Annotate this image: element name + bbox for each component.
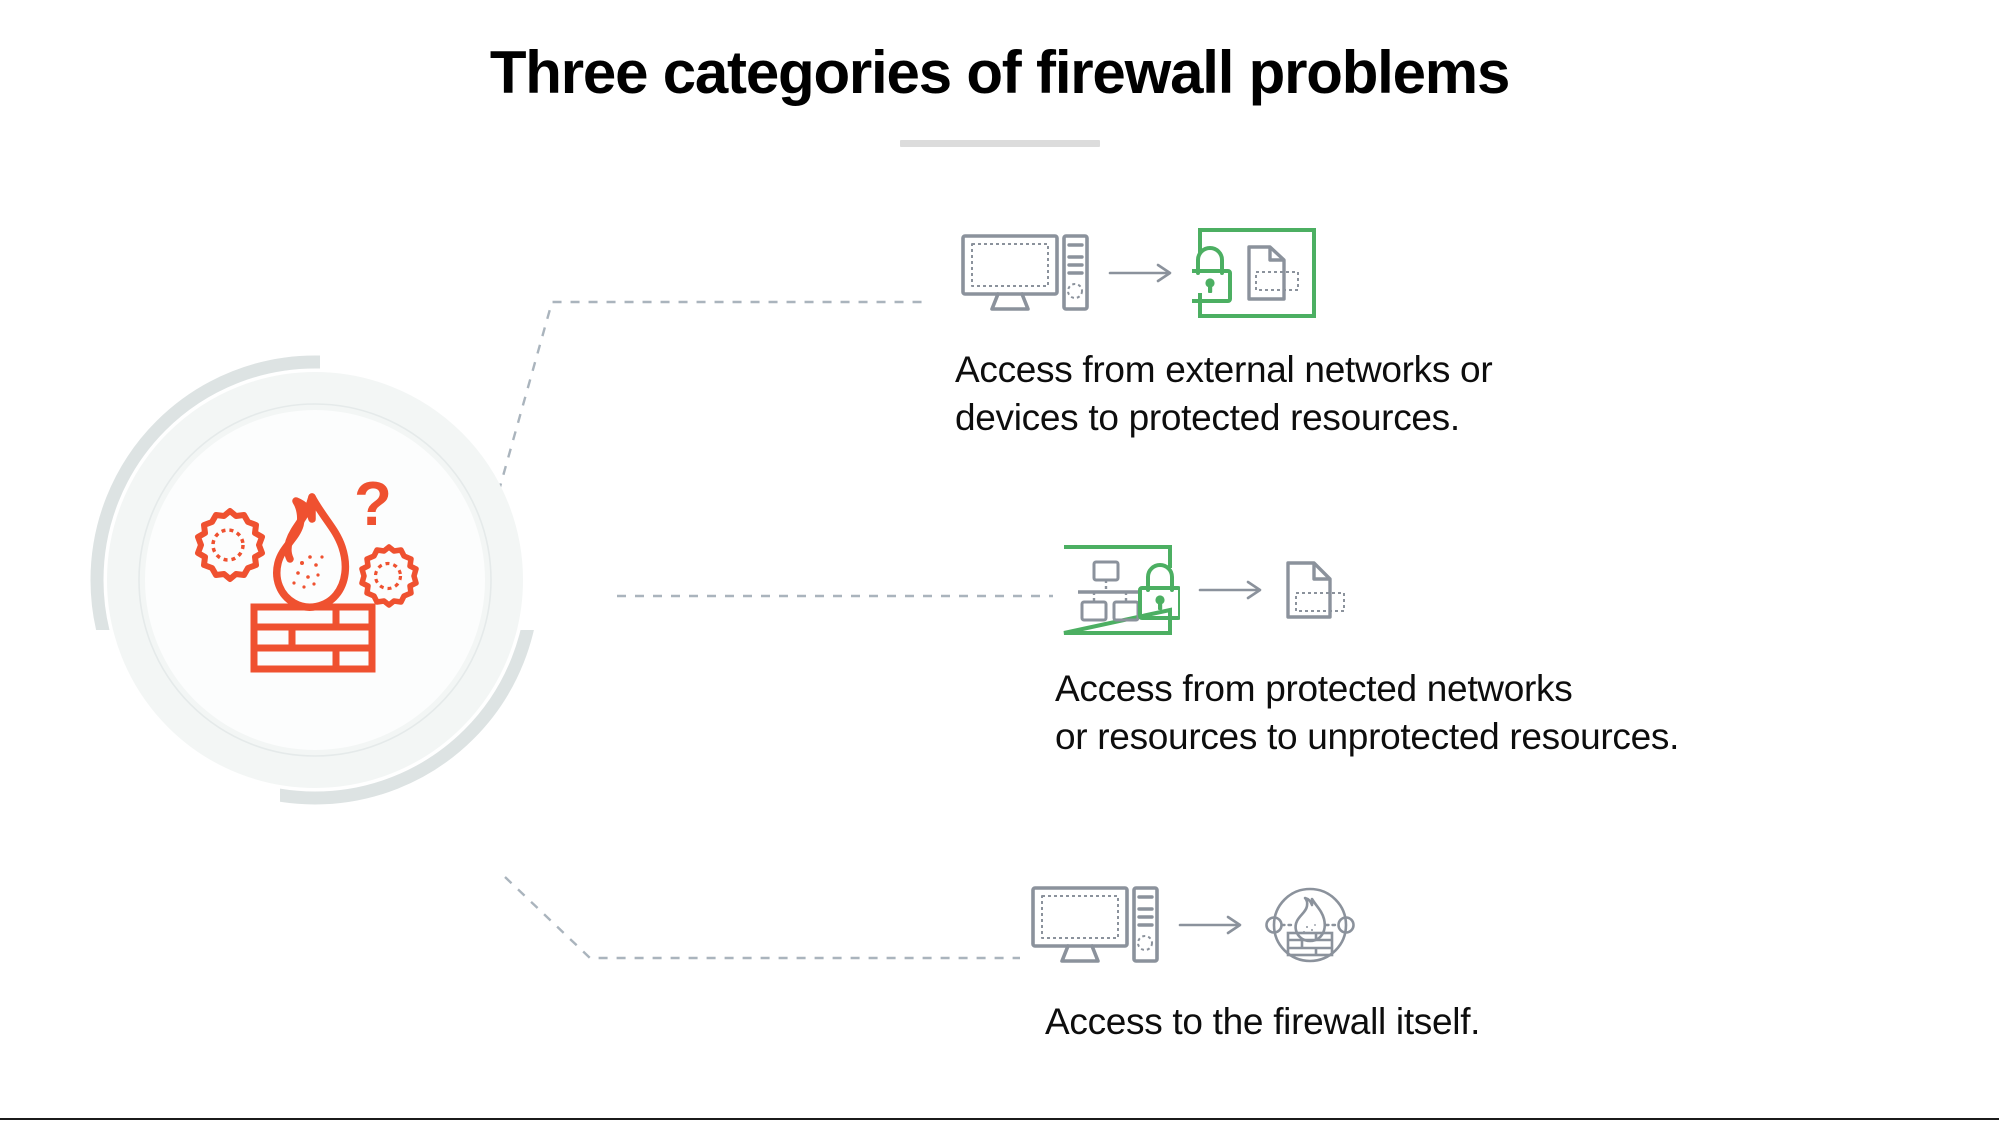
desktop-computer-icon: [1030, 883, 1160, 967]
page-title: Three categories of firewall problems: [0, 40, 1999, 106]
connector-line-bottom: [505, 877, 1020, 958]
document-icon: [1282, 557, 1348, 623]
row-3-caption: Access to the firewall itself.: [1045, 998, 1480, 1046]
category-row-2: Access from protected networks or resour…: [1060, 545, 1679, 761]
row-3-icon-group: [1030, 880, 1480, 970]
document-icon: [1249, 247, 1298, 299]
network-topology-icon: [1078, 562, 1138, 620]
title-underline: [900, 140, 1100, 147]
row-2-caption: Access from protected networks or resour…: [1055, 665, 1679, 761]
flame-icon: [1296, 898, 1325, 941]
desktop-computer-icon: [960, 231, 1090, 315]
firewall-node-icon: [1262, 877, 1358, 973]
category-row-1: Access from external networks or devices…: [960, 228, 1492, 442]
arrow-right-icon: [1178, 913, 1244, 937]
header: Three categories of firewall problems: [0, 40, 1999, 147]
row-1-icon-group: [960, 228, 1492, 318]
row-2-icon-group: [1060, 545, 1679, 635]
arrow-right-icon: [1108, 261, 1174, 285]
protected-zone-frame: [1192, 227, 1318, 319]
padlock-icon: [1140, 565, 1180, 618]
category-row-3: Access to the firewall itself.: [1030, 880, 1480, 1046]
emblem-disc: [145, 410, 485, 750]
protected-zone-frame: [1060, 544, 1180, 636]
question-mark-icon: ?: [354, 470, 392, 539]
arrow-right-icon: [1198, 578, 1264, 602]
row-1-caption: Access from external networks or devices…: [955, 346, 1492, 442]
padlock-icon: [1192, 248, 1230, 301]
bottom-rule: [0, 1118, 1999, 1120]
firewall-problem-emblem: ?: [70, 330, 550, 810]
brick-wall-icon: [1288, 933, 1332, 955]
